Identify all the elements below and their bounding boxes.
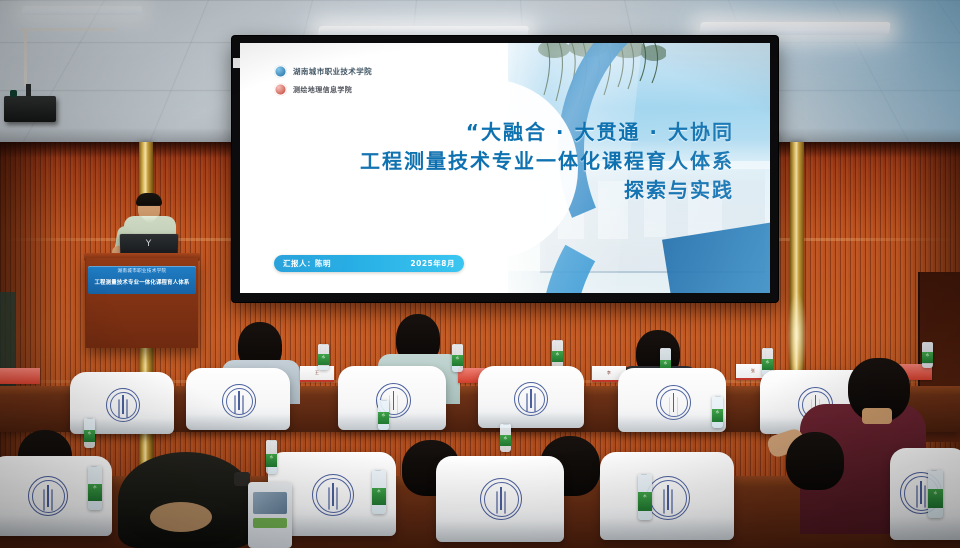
chair-with-cover <box>436 456 564 542</box>
phone-green-bar <box>253 518 287 528</box>
slide-logo-group: 湖南城市职业技术学院 测绘地理信息学院 <box>274 65 464 101</box>
ceiling-light-fixture <box>21 6 143 15</box>
slide-title-line-1: “大融合 · 大贯通 · 大协同 <box>240 119 734 146</box>
water-bottle: 水 <box>372 470 386 514</box>
slide-presenter-bar: 汇报人：陈明 2025年8月 <box>274 255 464 272</box>
water-bottle: 水 <box>552 340 563 368</box>
water-bottle: 水 <box>84 418 95 448</box>
chair-with-cover <box>478 366 584 428</box>
water-bottle: 水 <box>378 400 389 430</box>
brass-glare <box>787 292 807 378</box>
water-bottle: 水 <box>922 342 933 368</box>
cap-strap-gap <box>150 502 212 532</box>
name-placard: 王 <box>300 366 334 382</box>
wall-device-indicator <box>10 90 17 97</box>
glasses-icon <box>139 205 159 211</box>
podium-banner-main-text: 工程测量技术专业一体化课程育人体系 <box>90 278 194 286</box>
water-bottle: 水 <box>500 424 511 452</box>
slide-logo-row-department: 测绘地理信息学院 <box>274 83 464 96</box>
red-circle-logo-icon <box>274 83 287 96</box>
chair-with-cover <box>600 452 734 540</box>
water-bottle: 水 <box>318 344 329 370</box>
ceiling-conduit <box>20 28 116 31</box>
speaker-mount-pipe <box>24 30 27 86</box>
slide-title-line-3: 探索与实践 <box>240 177 734 204</box>
institution-name: 湖南城市职业技术学院 <box>293 66 372 77</box>
water-bottle: 水 <box>928 470 943 518</box>
lecture-hall-photo: 湖南城市职业技术学院 测绘地理信息学院 “大融合 · 大贯通 · 大协同 工程测… <box>0 0 960 548</box>
slide-title-line-2: 工程测量技术专业一体化课程育人体系 <box>240 148 734 175</box>
chair-with-cover <box>186 368 290 430</box>
blue-circle-logo-icon <box>274 65 287 78</box>
water-bottle: 水 <box>712 396 723 428</box>
attendee-neck <box>862 408 892 424</box>
department-name: 测绘地理信息学院 <box>293 85 352 95</box>
water-bottle: 水 <box>638 474 652 520</box>
water-bottle: 水 <box>266 440 277 474</box>
phone-photo-thumb <box>253 492 287 514</box>
presentation-slide[interactable]: 湖南城市职业技术学院 测绘地理信息学院 “大融合 · 大贯通 · 大协同 工程测… <box>240 43 770 293</box>
water-bottle: 水 <box>88 466 102 510</box>
podium-banner-top-text: 湖南城市职业技术学院 <box>95 268 189 274</box>
attendee-head <box>786 432 844 490</box>
presenter-label: 汇报人：陈明 <box>283 258 331 269</box>
red-name-tag <box>0 368 40 384</box>
water-bottle: 水 <box>452 344 463 372</box>
presentation-date: 2025年8月 <box>410 258 455 269</box>
wall-speaker-icon <box>4 96 56 122</box>
ceiling-light-fixture <box>699 22 891 35</box>
chair-with-cover <box>338 366 446 430</box>
laptop-logo-icon: Y <box>144 240 153 249</box>
slide-title-block: “大融合 · 大贯通 · 大协同 工程测量技术专业一体化课程育人体系 探索与实践 <box>240 119 756 203</box>
placard-text: 王 <box>300 370 334 376</box>
slide-logo-row-institution: 湖南城市职业技术学院 <box>274 65 464 78</box>
chair-with-cover <box>618 368 726 432</box>
chair-with-cover <box>890 448 960 540</box>
